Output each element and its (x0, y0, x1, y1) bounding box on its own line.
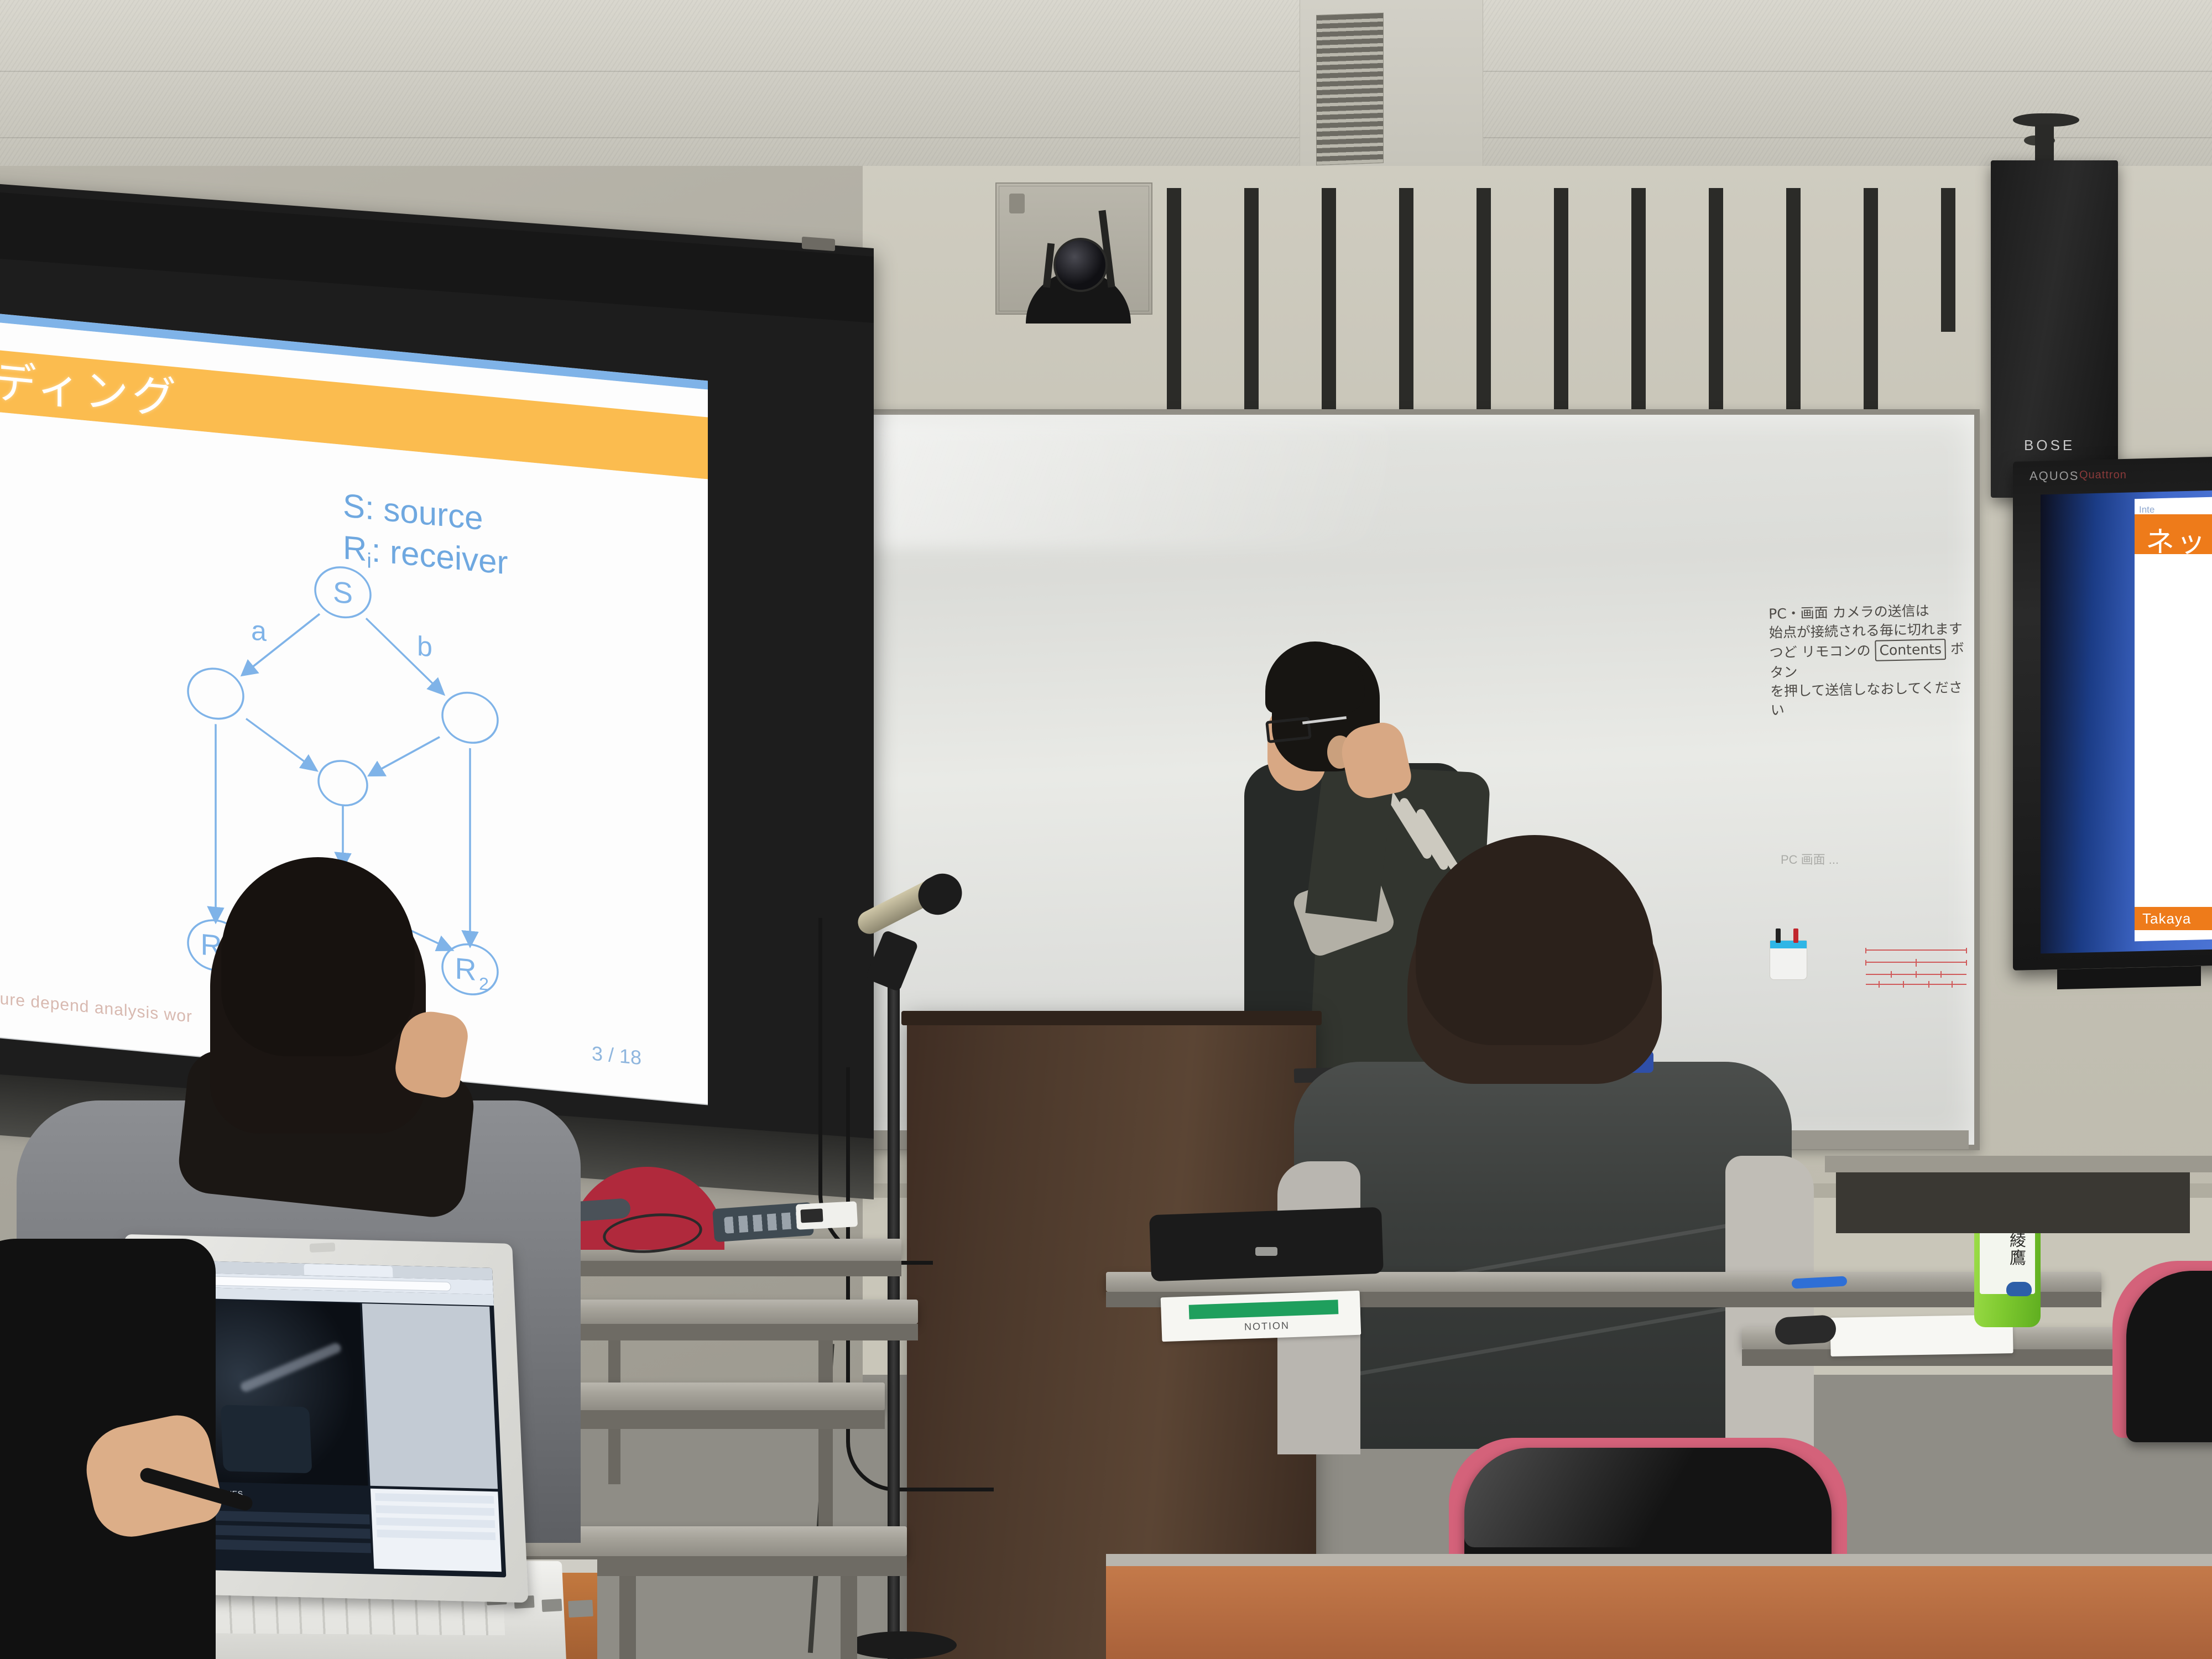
desk-leg (619, 1576, 636, 1659)
panel-row[interactable] (377, 1530, 495, 1540)
red-marker-icon[interactable] (1793, 928, 1798, 943)
chair-highlight (1464, 1448, 1832, 1547)
speaker-mount-stem (2035, 124, 2054, 163)
laptop-bag[interactable] (1149, 1207, 1384, 1282)
lecture-hall-scene: BOSE AQUOS Quattron Inte ネッ Takaya PC・画面… (0, 0, 2212, 1659)
wall-slat (1244, 188, 1259, 409)
ptz-camera-icon (1053, 238, 1108, 292)
booklet-title-text: NOTION (1244, 1320, 1290, 1333)
vga-adapter[interactable] (796, 1201, 858, 1230)
bag-zipper[interactable] (1255, 1247, 1277, 1256)
laptop-lan-port (568, 1600, 593, 1618)
tv-slide-page (2135, 497, 2212, 941)
whiteboard-handwritten-note: PC・画面 カメラの送信は 始点が接続される毎に切れます つど リモコンの Co… (1768, 601, 1970, 719)
bottle-brand-text: 綾鷹 (2005, 1232, 2031, 1267)
desk-edge (542, 1261, 901, 1276)
whiteboard-faint-note: PC 画面 ... (1781, 852, 1963, 868)
note-boxed-word: Contents (1875, 639, 1946, 661)
wall-slat (1399, 188, 1413, 409)
video-lens-flare (239, 1342, 342, 1393)
wall-slat (1631, 188, 1646, 409)
svg-text:b: b (417, 630, 432, 663)
tv-slide-footer-band: Takaya (2135, 907, 2212, 930)
desk-leg (841, 1576, 857, 1659)
camera-mount-bolt (1009, 194, 1025, 213)
wall-slat (1554, 188, 1568, 409)
panel-row[interactable] (375, 1505, 494, 1516)
computer-mouse[interactable] (1775, 1314, 1837, 1345)
laptop-webcam-icon (310, 1243, 336, 1253)
tv-slide-title-text: ネッ (2146, 519, 2208, 560)
panel-row[interactable] (375, 1493, 494, 1504)
browser-tab[interactable] (304, 1264, 393, 1277)
whiteboard-red-diagram (1864, 946, 1969, 990)
laptop-usb-port (541, 1599, 562, 1612)
slide-page-indicator: 3 / 18 (592, 1042, 641, 1070)
video-subject (221, 1405, 312, 1473)
air-vent-grill-icon (1316, 13, 1384, 165)
wall-slat (1786, 188, 1801, 409)
wall-slat (1477, 188, 1491, 409)
glasses-icon (1265, 717, 1312, 743)
ceiling-seam (0, 137, 2212, 138)
svg-text:S: S (333, 576, 353, 611)
wall-slat (1864, 188, 1878, 409)
attendee-left-head (221, 857, 415, 1056)
sidebar-panel (371, 1489, 502, 1572)
svg-text:2: 2 (479, 973, 489, 994)
tv-slide-footer-text: Takaya (2142, 910, 2191, 927)
wall-shelf-recess (1836, 1172, 2190, 1233)
note-line-3: つど リモコンの (1769, 643, 1871, 661)
tv-slide-header-text: Inte (2139, 504, 2212, 514)
wall-slat (1709, 188, 1723, 409)
tv-brand-label: AQUOS (2030, 469, 2079, 483)
page-sidebar (362, 1303, 498, 1489)
speaker-brand-label: BOSE (2024, 437, 2085, 454)
front-desk-edge (1106, 1554, 2212, 1566)
wall-slat (1167, 188, 1181, 409)
marker-cup[interactable] (1770, 940, 1807, 980)
wall-slat (1322, 188, 1336, 409)
lectern-top (901, 1011, 1322, 1025)
teapot-icon (2006, 1282, 2032, 1296)
tv-mount (2057, 966, 2201, 989)
wall-slat (1941, 188, 1955, 332)
tv-brand-sub-label: Quattron (2079, 469, 2127, 482)
wall-shelf (1825, 1156, 2212, 1172)
whiteboard-glare (841, 420, 1394, 547)
black-marker-icon[interactable] (1776, 928, 1781, 943)
note-line-5: を押して送信しなおしてください (1770, 678, 1970, 720)
svg-text:a: a (251, 615, 267, 648)
svg-text:R: R (455, 952, 477, 987)
ceiling-seam (0, 71, 2212, 72)
panel-row[interactable] (376, 1517, 495, 1528)
screen-pull-knob[interactable] (802, 237, 835, 251)
front-desk-surface (1106, 1565, 2212, 1659)
ceiling (0, 0, 2212, 182)
